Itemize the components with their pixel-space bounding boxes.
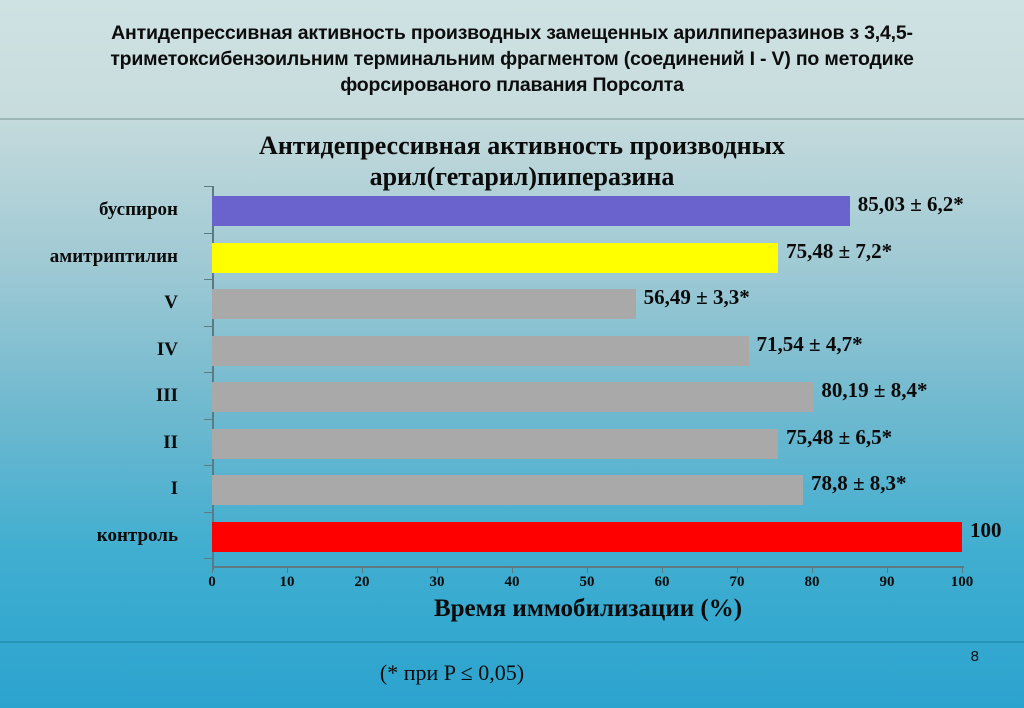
x-axis-tick-label: 60 xyxy=(642,574,682,591)
category-label-7: I xyxy=(0,478,178,500)
bar-value-label: 85,03 ± 6,2* xyxy=(858,192,964,217)
bar-value-label: 100 xyxy=(970,518,1002,543)
bar-row[interactable]: 100 xyxy=(212,522,962,552)
y-axis-tick xyxy=(204,419,212,420)
bar-value-label: 75,48 ± 7,2* xyxy=(786,239,892,264)
bar-row[interactable]: 71,54 ± 4,7* xyxy=(212,336,962,366)
x-axis-tick-label: 30 xyxy=(417,574,457,591)
bar-8[interactable] xyxy=(212,522,962,552)
y-axis-tick xyxy=(204,186,212,187)
bar-row[interactable]: 78,8 ± 8,3* xyxy=(212,475,962,505)
chart-title: Антидепрессивная активность производных … xyxy=(152,130,892,192)
x-axis-tick-label: 40 xyxy=(492,574,532,591)
bar-row[interactable]: 56,49 ± 3,3* xyxy=(212,289,962,319)
x-axis-tick xyxy=(212,566,213,573)
x-axis-line xyxy=(212,566,964,568)
x-axis-tick xyxy=(662,566,663,573)
y-axis-tick xyxy=(204,465,212,466)
category-label-6: II xyxy=(0,432,178,454)
bar-value-label: 80,19 ± 8,4* xyxy=(821,378,927,403)
x-axis-tick-label: 10 xyxy=(267,574,307,591)
bar-value-label: 71,54 ± 4,7* xyxy=(757,332,863,357)
x-axis-tick-label: 50 xyxy=(567,574,607,591)
slide-header: Антидепрессивная активность производных … xyxy=(0,0,1024,120)
y-axis-tick xyxy=(204,233,212,234)
x-axis-tick xyxy=(512,566,513,573)
x-axis-tick-label: 100 xyxy=(942,574,982,591)
x-axis-tick-label: 20 xyxy=(342,574,382,591)
category-label-3: V xyxy=(0,292,178,314)
x-axis-tick xyxy=(587,566,588,573)
slide-header-title: Антидепрессивная активность производных … xyxy=(72,20,952,98)
bar-1[interactable] xyxy=(212,196,850,226)
footnote: (* при P ≤ 0,05) xyxy=(0,660,1024,686)
category-label-5: III xyxy=(0,385,178,407)
x-axis-tick-label: 70 xyxy=(717,574,757,591)
bar-value-label: 78,8 ± 8,3* xyxy=(811,471,907,496)
bar-row[interactable]: 75,48 ± 6,5* xyxy=(212,429,962,459)
bar-5[interactable] xyxy=(212,382,813,412)
category-label-4: IV xyxy=(0,339,178,361)
y-axis-tick xyxy=(204,372,212,373)
y-axis-tick xyxy=(204,512,212,513)
x-axis-tick-label: 90 xyxy=(867,574,907,591)
bar-value-label: 56,49 ± 3,3* xyxy=(644,285,750,310)
x-axis-tick xyxy=(437,566,438,573)
category-label-1: буспирон xyxy=(0,199,178,221)
footer-divider xyxy=(0,641,1024,643)
slide-number: 8 xyxy=(971,648,979,665)
slide: Антидепрессивная активность производных … xyxy=(0,0,1024,708)
bar-4[interactable] xyxy=(212,336,749,366)
bar-6[interactable] xyxy=(212,429,778,459)
x-axis-tick xyxy=(737,566,738,573)
x-axis-tick xyxy=(812,566,813,573)
category-axis-labels: буспиронамитриптилинVIVIIIIIIконтроль xyxy=(0,196,200,566)
x-axis-tick-label: 80 xyxy=(792,574,832,591)
bar-3[interactable] xyxy=(212,289,636,319)
bar-value-label: 75,48 ± 6,5* xyxy=(786,425,892,450)
y-axis-tick xyxy=(204,326,212,327)
bar-7[interactable] xyxy=(212,475,803,505)
x-axis-tick xyxy=(362,566,363,573)
y-axis-tick xyxy=(204,279,212,280)
bar-row[interactable]: 80,19 ± 8,4* xyxy=(212,382,962,412)
x-axis-tick xyxy=(287,566,288,573)
x-axis-tick xyxy=(962,566,963,573)
x-axis-tick-label: 0 xyxy=(192,574,232,591)
plot-area: 85,03 ± 6,2*75,48 ± 7,2*56,49 ± 3,3*71,5… xyxy=(212,196,962,566)
x-axis-title: Время иммобилизации (%) xyxy=(212,595,964,623)
y-axis-tick xyxy=(204,558,212,559)
bar-row[interactable]: 85,03 ± 6,2* xyxy=(212,196,962,226)
bar-row[interactable]: 75,48 ± 7,2* xyxy=(212,243,962,273)
category-label-2: амитриптилин xyxy=(0,246,178,268)
category-label-8: контроль xyxy=(0,525,178,547)
x-axis-tick xyxy=(887,566,888,573)
bar-2[interactable] xyxy=(212,243,778,273)
